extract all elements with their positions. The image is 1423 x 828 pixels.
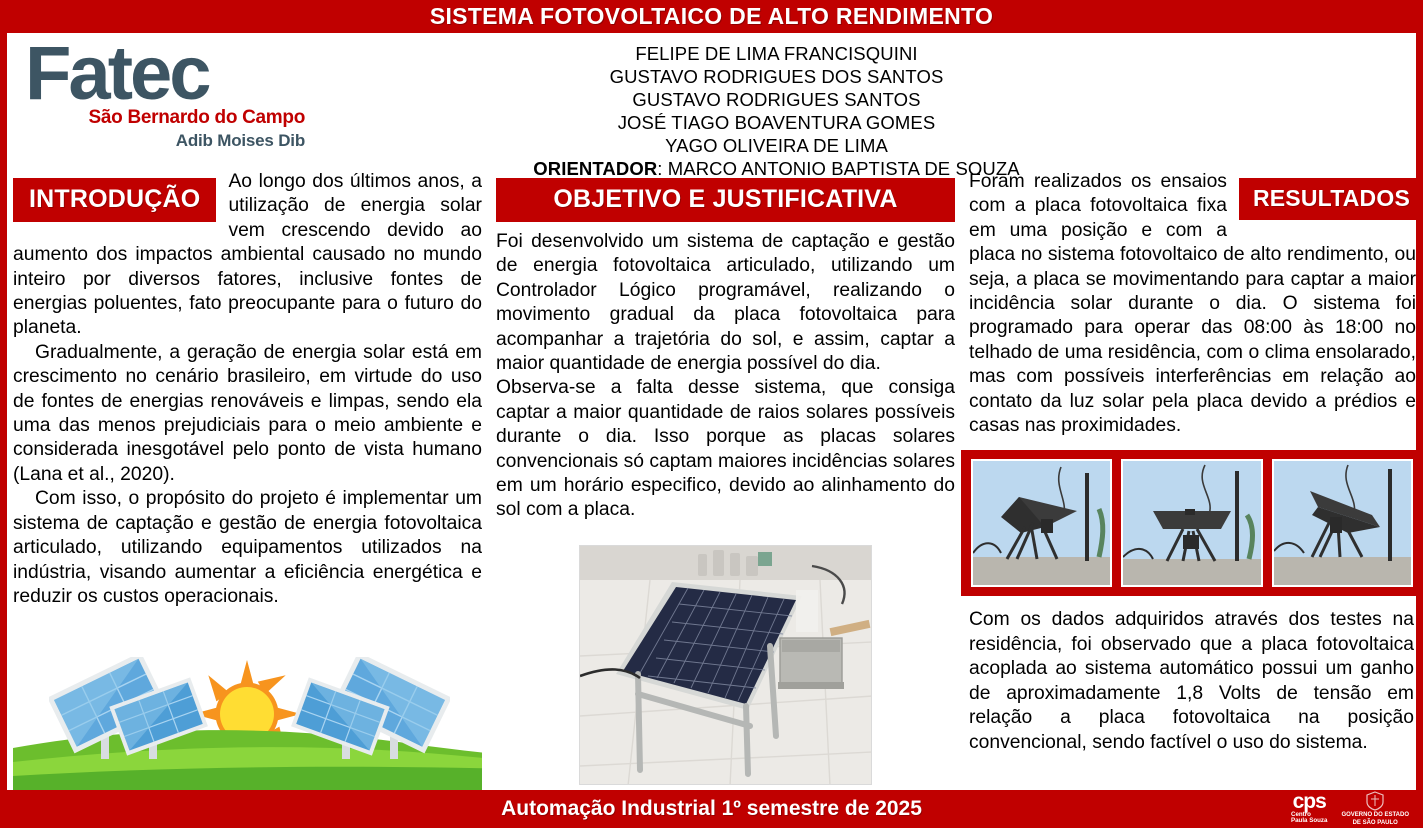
coat-of-arms-icon	[1364, 791, 1386, 811]
column-introducao: INTRODUÇÃO Ao longo dos últimos anos, a …	[7, 170, 488, 790]
introducao-body: Ao longo dos últimos anos, a utilização …	[13, 170, 482, 609]
panel-tilt-photo-graphic	[973, 461, 1111, 585]
result-photo-strip	[961, 450, 1423, 596]
footer-course-label: Automação Industrial 1º semestre de 2025	[0, 797, 1423, 821]
cps-logo: cps Centro Paula Souza	[1291, 793, 1327, 825]
introducao-text-block: INTRODUÇÃO Ao longo dos últimos anos, a …	[13, 170, 482, 609]
author-name: YAGO OLIVEIRA DE LIMA	[307, 135, 1246, 158]
solar-panel-right	[290, 657, 450, 774]
fatec-logo: Fatec São Bernardo do Campo Adib Moises …	[7, 33, 307, 151]
cps-name-line2: Paula Souza	[1291, 818, 1327, 825]
column-objetivo: OBJETIVO E JUSTIFICATIVA Foi desenvolvid…	[488, 170, 961, 790]
solar-landscape-illustration	[13, 642, 482, 790]
sao-paulo-government-logo: GOVERNO DO ESTADO DE SÃO PAULO	[1341, 791, 1409, 826]
paragraph: Com isso, o propósito do projeto é imple…	[13, 487, 482, 609]
resultados-text-block: RESULTADOS Foram realizados os ensaios c…	[969, 170, 1416, 438]
author-name: FELIPE DE LIMA FRANCISQUINI	[307, 43, 1246, 66]
gov-name-line1: GOVERNO DO ESTADO	[1341, 812, 1409, 819]
result-photo	[971, 459, 1112, 587]
poster-footer: Automação Industrial 1º semestre de 2025…	[0, 790, 1423, 828]
result-photo	[1121, 459, 1262, 587]
poster-title-bar: SISTEMA FOTOVOLTAICO DE ALTO RENDIMENTO	[0, 0, 1423, 33]
solar-panel-icon	[290, 657, 450, 769]
author-name: GUSTAVO RODRIGUES SANTOS	[307, 89, 1246, 112]
authors-list: FELIPE DE LIMA FRANCISQUINI GUSTAVO RODR…	[307, 33, 1416, 181]
section-heading-resultados: RESULTADOS	[1239, 178, 1423, 220]
paragraph: Observa-se a falta desse sistema, que co…	[496, 376, 955, 522]
paragraph: Gradualmente, a geração de energia solar…	[13, 341, 482, 487]
solar-panel-icon	[49, 657, 209, 769]
section-heading-introducao: INTRODUÇÃO	[13, 178, 216, 222]
result-photo	[1272, 459, 1413, 587]
prototype-photo-graphic	[580, 546, 872, 785]
section-heading-objetivo: OBJETIVO E JUSTIFICATIVA	[496, 178, 955, 222]
resultados-conclusion: Com os dados adquiridos através dos test…	[969, 608, 1416, 754]
panel-tilt-photo-graphic	[1274, 461, 1412, 585]
poster-columns: INTRODUÇÃO Ao longo dos últimos anos, a …	[7, 170, 1416, 790]
fatec-wordmark: Fatec	[25, 39, 307, 109]
prototype-photo	[579, 545, 872, 785]
cps-wordmark: cps	[1293, 793, 1326, 812]
footer-logos: cps Centro Paula Souza GOVERNO DO ESTADO…	[1291, 791, 1423, 826]
solar-panel-left	[49, 657, 209, 774]
author-name: GUSTAVO RODRIGUES DOS SANTOS	[307, 66, 1246, 89]
poster-header: Fatec São Bernardo do Campo Adib Moises …	[7, 33, 1416, 170]
objetivo-body: Foi desenvolvido um sistema de captação …	[496, 230, 955, 523]
gov-name-line2: DE SÃO PAULO	[1353, 820, 1398, 827]
paragraph: Foi desenvolvido um sistema de captação …	[496, 230, 955, 376]
author-name: JOSÉ TIAGO BOAVENTURA GOMES	[307, 112, 1246, 135]
fatec-unit-label: Adib Moises Dib	[25, 131, 307, 151]
column-resultados: RESULTADOS Foram realizados os ensaios c…	[961, 170, 1416, 790]
poster-root: SISTEMA FOTOVOLTAICO DE ALTO RENDIMENTO …	[0, 0, 1423, 828]
panel-tilt-photo-graphic	[1123, 461, 1261, 585]
paragraph: Com os dados adquiridos através dos test…	[969, 608, 1414, 754]
poster-title: SISTEMA FOTOVOLTAICO DE ALTO RENDIMENTO	[430, 3, 993, 30]
